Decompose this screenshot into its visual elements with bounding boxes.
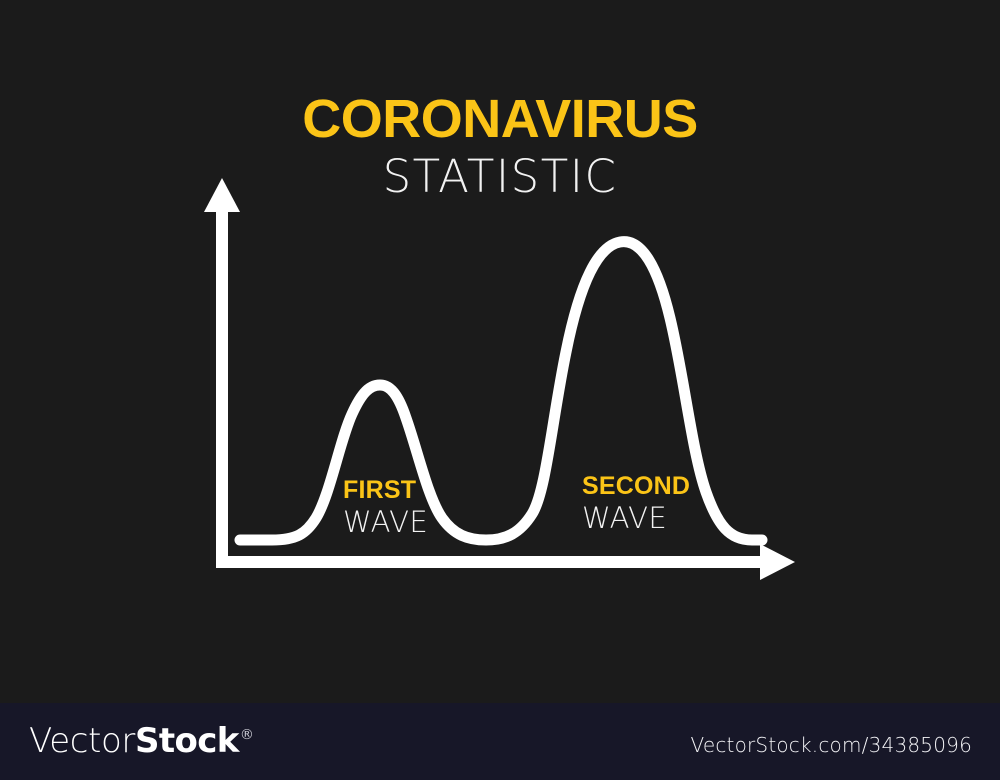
poster-canvas: CORONAVIRUS STATISTIC FIRST WAVE SECOND … xyxy=(0,0,1000,780)
vectorstock-logo[interactable]: VectorStock® xyxy=(29,724,254,758)
second-wave-label-bottom: WAVE xyxy=(582,504,690,533)
second-wave-label: SECOND WAVE xyxy=(582,474,690,533)
logo-text-stock: Stock xyxy=(135,721,239,761)
stock-image-url[interactable]: VectorStock.com/34385096 xyxy=(691,733,973,757)
epidemic-curve-chart xyxy=(0,0,1000,703)
x-axis-line xyxy=(216,556,766,568)
first-wave-label: FIRST WAVE xyxy=(343,478,428,537)
poster-body: CORONAVIRUS STATISTIC FIRST WAVE SECOND … xyxy=(0,0,1000,703)
watermark-footer: VectorStock® VectorStock.com/34385096 xyxy=(0,703,1000,780)
y-axis-line xyxy=(216,193,228,568)
first-wave-label-bottom: WAVE xyxy=(343,508,428,537)
y-axis-arrow-icon xyxy=(204,178,240,212)
second-wave-label-top: SECOND xyxy=(582,474,690,499)
logo-text-vector: Vector xyxy=(29,721,135,761)
first-wave-label-top: FIRST xyxy=(343,478,428,503)
registered-trademark-icon: ® xyxy=(240,727,254,743)
x-axis-arrow-icon xyxy=(760,544,795,580)
